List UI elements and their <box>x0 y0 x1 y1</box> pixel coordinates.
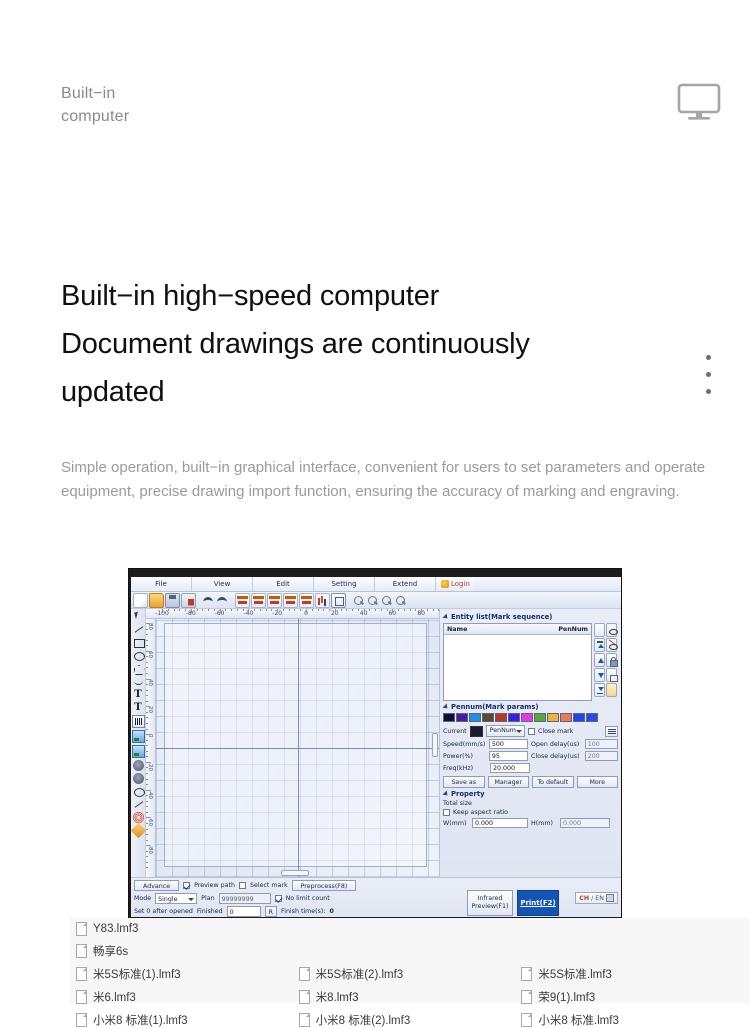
ruler-tick <box>352 609 353 611</box>
ruler-tick-label: -80 <box>147 845 153 854</box>
ruler-tick <box>146 851 148 852</box>
pen-color-swatch[interactable] <box>482 713 494 722</box>
pen-tool-icon[interactable] <box>131 823 146 839</box>
list-item[interactable]: Y83.lmf3 <box>76 922 299 936</box>
login-icon <box>441 580 449 588</box>
app-window: File View Edit Setting Extend Login <box>131 577 621 917</box>
select-all-icon[interactable] <box>606 683 617 697</box>
ruler-tick <box>191 609 192 613</box>
current-label: Current <box>443 728 467 735</box>
ruler-tick <box>146 829 148 830</box>
manager-button[interactable]: Manager <box>488 776 530 788</box>
file-icon <box>521 1013 532 1027</box>
vertical-text-tool-icon[interactable]: T <box>133 702 144 713</box>
distribute-icon[interactable] <box>315 593 330 608</box>
canvas-scrollbar-horizontal[interactable] <box>281 870 309 876</box>
work-area: T T -100-80-60-40-20020406080 806040200-… <box>131 609 621 877</box>
delete-icon[interactable] <box>181 593 196 608</box>
target-tool-icon[interactable] <box>133 812 144 823</box>
ruler-tick <box>146 806 148 807</box>
ruler-tick <box>146 645 148 646</box>
ruler-tick <box>346 609 347 611</box>
height-label: H(mm) <box>531 820 557 827</box>
ruler-tick <box>146 651 150 652</box>
ruler-tick <box>146 823 148 824</box>
pen-list-icon[interactable] <box>605 726 618 737</box>
plan-input[interactable]: 99999999 <box>219 893 271 904</box>
file-icon <box>299 990 310 1004</box>
menu-item-file[interactable]: File <box>131 577 192 591</box>
rectangle-tool-icon[interactable] <box>133 637 144 648</box>
kebab-dot <box>706 389 711 394</box>
power-input[interactable]: 95 <box>489 751 528 761</box>
reset-button[interactable]: R <box>265 906 277 917</box>
entity-list-header: Name PenNum <box>444 624 591 635</box>
list-item[interactable]: 米5S标准(1).lmf3 <box>76 966 299 982</box>
open-folder-icon[interactable] <box>149 593 164 608</box>
ruler-tick <box>364 609 365 613</box>
finish-time-value: 0 <box>330 908 334 915</box>
ruler-tick <box>146 640 148 641</box>
list-item <box>299 922 522 936</box>
ruler-tick <box>398 609 399 611</box>
ruler-tick <box>248 609 249 613</box>
rotate-tool-icon[interactable] <box>133 786 144 797</box>
language-ch-label[interactable]: CH <box>579 895 589 902</box>
pen-color-swatch[interactable] <box>547 713 559 722</box>
menu-item-edit[interactable]: Edit <box>253 577 314 591</box>
lock-icon[interactable] <box>606 894 614 902</box>
ruler-tick <box>146 712 148 713</box>
ruler-tick <box>208 609 209 611</box>
kebab-dot <box>706 355 711 360</box>
ruler-tick <box>220 609 221 613</box>
print-button[interactable]: Print(F2) <box>517 890 559 916</box>
current-color-swatch[interactable] <box>470 726 483 737</box>
preprocess-button[interactable]: Preprocess(F8) <box>292 880 357 891</box>
list-item[interactable]: 小米8 标准(1).lmf3 <box>76 1012 299 1028</box>
ruler-tick <box>318 609 319 611</box>
ruler-tick <box>146 762 150 763</box>
ruler-tick <box>387 609 388 611</box>
pennum-dropdown[interactable]: PenNum <box>486 725 525 737</box>
ruler-tick <box>146 845 150 846</box>
close-delay-input[interactable]: 200 <box>585 751 618 761</box>
pen-color-swatch[interactable] <box>469 713 481 722</box>
login-label: Login <box>451 580 470 588</box>
ruler-tick <box>260 609 261 611</box>
collapse-triangle-icon <box>442 703 449 710</box>
bottom-control-bar: Advance Preview path Select mark Preproc… <box>131 877 621 917</box>
disc-tool-icon[interactable] <box>133 773 144 784</box>
preview-path-label: Preview path <box>194 882 235 889</box>
language-slash: / <box>591 895 593 902</box>
ruler-tick <box>225 609 226 611</box>
entity-list-buttons <box>594 623 618 701</box>
pen-color-swatches <box>443 713 618 722</box>
list-item <box>299 943 522 959</box>
pen-color-swatch[interactable] <box>560 713 572 722</box>
list-item <box>521 922 744 936</box>
headline-line-2: Document drawings are continuously <box>61 320 711 368</box>
file-icon <box>76 967 87 981</box>
ruler-tick <box>421 609 422 613</box>
ruler-tick <box>146 767 148 768</box>
text-tool-icon[interactable]: T <box>133 689 144 700</box>
ruler-tick <box>283 609 284 611</box>
zoom-out-icon[interactable] <box>380 594 393 607</box>
align-left-icon[interactable] <box>235 593 250 608</box>
redo-icon[interactable] <box>216 594 229 607</box>
entity-list-section-title[interactable]: Entity list(Mark sequence) <box>444 613 618 621</box>
ruler-tick <box>146 729 148 730</box>
ruler-tick <box>146 690 148 691</box>
ruler-tick <box>146 745 148 746</box>
power-label: Power(%) <box>443 753 486 760</box>
ruler-tick <box>168 609 169 611</box>
ruler-tick <box>146 856 148 857</box>
ruler-tick <box>329 609 330 611</box>
vector-tool-icon[interactable] <box>133 760 144 771</box>
pen-color-swatch[interactable] <box>443 713 455 722</box>
grid-icon[interactable] <box>331 593 346 608</box>
ruler-tick <box>146 667 148 668</box>
unlock-icon[interactable] <box>606 668 617 682</box>
select-mark-checkbox[interactable] <box>239 882 246 889</box>
entity-col-pennum: PenNum <box>558 626 588 633</box>
ruler-tick <box>146 784 148 785</box>
keep-aspect-ratio-row: Keep aspect ratio <box>443 809 618 816</box>
entity-col-name: Name <box>447 626 467 633</box>
file-icon <box>76 944 87 958</box>
horizontal-ruler: -100-80-60-40-20020406080 <box>146 609 439 619</box>
edit-pencil-icon[interactable] <box>594 623 605 637</box>
barcode-tool-icon[interactable] <box>132 715 145 728</box>
vertical-ruler: 806040200-20-40-60-80 <box>146 619 156 877</box>
ruler-tick-label: -60 <box>147 817 153 826</box>
ruler-tick-label: -40 <box>147 790 153 799</box>
to-default-button[interactable]: To default <box>532 776 574 788</box>
ruler-tick <box>146 790 150 791</box>
zoom-fit-icon[interactable] <box>394 594 407 607</box>
ruler-tick <box>174 609 175 611</box>
ruler-tick <box>375 609 376 611</box>
infrared-preview-line-1: Infrared <box>478 895 503 902</box>
finish-time-label: Finish time(s): <box>281 908 325 915</box>
ruler-tick <box>146 701 148 702</box>
ruler-tick <box>202 609 203 611</box>
pen-color-swatch[interactable] <box>534 713 546 722</box>
file-icon <box>299 1013 310 1027</box>
ruler-tick <box>404 609 405 611</box>
ruler-tick <box>300 609 301 611</box>
ruler-tick <box>146 634 148 635</box>
align-right-icon[interactable] <box>267 593 282 608</box>
menu-item-view[interactable]: View <box>192 577 253 591</box>
file-icon <box>76 1013 87 1027</box>
ruler-tick <box>146 734 150 735</box>
eye-visible-icon[interactable] <box>606 623 617 637</box>
ruler-tick <box>146 695 148 696</box>
finished-label: Finished <box>197 908 223 915</box>
open-delay-label: Open delay(us) <box>531 741 582 748</box>
ruler-tick <box>323 609 324 611</box>
undo-icon[interactable] <box>202 594 215 607</box>
freq-input[interactable]: 20.000 <box>490 763 530 773</box>
ruler-tick <box>146 817 150 818</box>
file-icon <box>521 967 532 981</box>
ruler-tick <box>410 609 411 611</box>
work-sheet <box>164 623 427 867</box>
width-height-row: W(mm) 0.000 H(mm) 0.000 <box>443 818 618 828</box>
login-button[interactable]: Login <box>436 577 475 591</box>
list-item[interactable]: 米5S标准(2).lmf3 <box>299 966 522 982</box>
pen-color-swatch[interactable] <box>456 713 468 722</box>
align-middle-v-icon[interactable] <box>299 593 314 608</box>
width-input[interactable]: 0.000 <box>472 818 528 828</box>
no-limit-count-label: No limit count <box>286 895 330 902</box>
ruler-tick <box>146 812 148 813</box>
file-icon <box>76 922 87 936</box>
speed-input[interactable]: 500 <box>489 739 528 749</box>
move-up-icon[interactable] <box>594 653 605 667</box>
left-tool-strip: T T <box>131 609 146 877</box>
menu-item-setting[interactable]: Setting <box>314 577 375 591</box>
total-size-row: Total size <box>443 800 618 807</box>
total-size-label: Total size <box>443 800 472 807</box>
ruler-tick <box>179 609 180 611</box>
more-button[interactable]: More <box>577 776 619 788</box>
curve-tool-icon[interactable] <box>133 676 144 687</box>
entity-list-body[interactable] <box>444 635 591 700</box>
ruler-tick <box>146 862 148 863</box>
ruler-tick <box>312 609 313 611</box>
eyebrow-line-1: Built−in <box>61 82 321 105</box>
save-as-button[interactable]: Save as <box>443 776 485 788</box>
pennum-button-row: Save as Manager To default More <box>443 776 618 788</box>
file-name-label: 米5S标准(2).lmf3 <box>316 966 404 982</box>
ruler-tick <box>433 609 434 611</box>
lock-icon[interactable] <box>606 653 617 667</box>
move-to-top-icon[interactable] <box>594 638 605 652</box>
action-buttons: Infrared Preview(F1) Print(F2) <box>467 890 559 916</box>
ruler-tick <box>358 609 359 611</box>
move-to-bottom-icon[interactable] <box>594 683 605 697</box>
power-close-delay-row: Power(%) 95 Close delay(us) 200 <box>443 751 618 761</box>
file-icon <box>76 990 87 1004</box>
close-delay-label: Close delay(us) <box>531 753 582 760</box>
ruler-tick <box>254 609 255 611</box>
ruler-tick <box>197 609 198 611</box>
close-mark-checkbox[interactable] <box>528 728 535 735</box>
page-title: Built−in high−speed computer Document dr… <box>61 272 711 416</box>
plan-label: Plan <box>201 895 214 902</box>
pen-color-swatch[interactable] <box>508 713 520 722</box>
main-toolbar <box>131 592 621 609</box>
align-center-h-icon[interactable] <box>251 593 266 608</box>
ruler-tick-label: -20 <box>147 762 153 771</box>
software-screenshot: File View Edit Setting Extend Login <box>128 568 622 922</box>
language-toggle[interactable]: CH / EN <box>575 892 618 904</box>
kebab-dot <box>706 372 711 377</box>
eye-hidden-icon[interactable] <box>606 638 617 652</box>
current-pen-row: Current PenNum Close mark <box>443 725 618 737</box>
ruler-tick <box>237 609 238 611</box>
ruler-tick <box>146 834 148 835</box>
pen-color-swatch[interactable] <box>495 713 507 722</box>
ruler-tick <box>146 756 148 757</box>
eyebrow-line-2: computer <box>61 105 321 128</box>
ruler-tick <box>335 609 336 613</box>
ruler-tick <box>146 867 148 868</box>
monitor-icon <box>676 82 722 124</box>
open-delay-input[interactable]: 100 <box>585 739 618 749</box>
toolbar-separator <box>347 594 351 607</box>
ruler-tick <box>146 662 148 663</box>
ruler-tick <box>146 656 148 657</box>
ruler-tick <box>146 779 148 780</box>
ruler-tick <box>162 609 163 613</box>
move-down-icon[interactable] <box>594 668 605 682</box>
save-icon[interactable] <box>165 593 180 608</box>
right-panel: Entity list(Mark sequence) Name PenNum <box>439 609 621 877</box>
ruler-tick <box>438 609 439 611</box>
set-zero-after-opened-label: Set 0 after opened <box>134 908 193 915</box>
ruler-tick <box>306 609 307 613</box>
ruler-tick <box>146 623 150 624</box>
list-item[interactable]: 小米8 标准(2).lmf3 <box>299 1012 522 1028</box>
ruler-tick <box>146 840 148 841</box>
description-paragraph: Simple operation, built−in graphical int… <box>61 456 721 504</box>
headline-line-1: Built−in high−speed computer <box>61 272 711 320</box>
keep-aspect-ratio-checkbox[interactable] <box>443 809 450 816</box>
file-list-panel: Y83.lmf3畅享6s米5S标准(1).lmf3米5S标准(2).lmf3米5… <box>70 918 750 1003</box>
finished-input[interactable]: 0 <box>227 906 261 917</box>
ruler-tick <box>289 609 290 611</box>
ruler-tick <box>146 629 148 630</box>
align-top-icon[interactable] <box>283 593 298 608</box>
drawing-canvas[interactable] <box>156 619 439 877</box>
file-name-label: 畅享6s <box>93 943 128 959</box>
file-name-label: 小米8 标准.lmf3 <box>538 1012 619 1028</box>
list-item[interactable]: 小米8 标准.lmf3 <box>521 1012 744 1028</box>
canvas-axis-horizontal <box>156 748 439 749</box>
canvas-column: -100-80-60-40-20020406080 806040200-20-4… <box>146 609 439 877</box>
ruler-tick <box>146 684 148 685</box>
property-title-label: Property <box>451 790 485 798</box>
ruler-tick <box>415 609 416 611</box>
height-input[interactable]: 0.000 <box>560 818 610 828</box>
entity-list-row: Name PenNum <box>443 623 618 701</box>
file-name-label: 米5S标准.lmf3 <box>538 966 612 982</box>
ruler-tick <box>294 609 295 611</box>
ruler-tick <box>277 609 278 613</box>
menu-bar-filler <box>475 577 621 591</box>
ruler-tick <box>266 609 267 611</box>
select-mark-label: Select mark <box>250 882 288 889</box>
ruler-tick <box>369 609 370 611</box>
collapse-triangle-icon <box>442 790 449 797</box>
pennum-section-title[interactable]: Pennum(Mark params) <box>444 703 618 711</box>
infrared-preview-line-2: Preview(F1) <box>471 903 508 910</box>
new-file-icon[interactable] <box>133 593 148 608</box>
ruler-tick <box>341 609 342 611</box>
toolbar-separator <box>197 594 201 607</box>
file-name-label: 小米8 标准(2).lmf3 <box>316 1012 411 1028</box>
infrared-preview-button[interactable]: Infrared Preview(F1) <box>467 890 513 916</box>
advance-button[interactable]: Advance <box>134 880 179 891</box>
zoom-icon[interactable] <box>352 594 365 607</box>
node-edit-icon[interactable] <box>133 799 144 810</box>
no-limit-count-checkbox[interactable] <box>275 895 282 902</box>
list-item[interactable]: 米5S标准.lmf3 <box>521 966 744 982</box>
close-mark-label: Close mark <box>538 728 573 735</box>
entity-list-title-label: Entity list(Mark sequence) <box>451 613 552 621</box>
select-arrow-icon[interactable] <box>133 611 144 622</box>
preview-path-checkbox[interactable] <box>183 882 190 889</box>
ellipse-tool-icon[interactable] <box>133 650 144 661</box>
entity-list[interactable]: Name PenNum <box>443 623 592 701</box>
file-icon <box>299 967 310 981</box>
ruler-tick <box>146 801 148 802</box>
ruler-tick <box>392 609 393 613</box>
keep-aspect-ratio-label: Keep aspect ratio <box>453 809 508 816</box>
bitmap-tool-icon[interactable] <box>132 745 145 758</box>
collapse-triangle-icon <box>442 613 449 620</box>
toolbar-separator <box>230 594 234 607</box>
line-tool-icon[interactable] <box>133 624 144 635</box>
freq-row: Freq(kHz) 20.000 <box>443 763 618 773</box>
file-icon <box>521 990 532 1004</box>
ruler-tick <box>146 679 150 680</box>
eyebrow-label: Built−in computer <box>61 82 321 128</box>
mode-select[interactable]: Single <box>155 893 197 904</box>
file-name-label: 米5S标准(1).lmf3 <box>93 966 181 982</box>
pen-color-swatch[interactable] <box>573 713 585 722</box>
ruler-tick <box>146 773 148 774</box>
file-list-grid: Y83.lmf3畅享6s米5S标准(1).lmf3米5S标准(2).lmf3米5… <box>70 918 750 1028</box>
ruler-tick <box>146 795 148 796</box>
freq-label: Freq(kHz) <box>443 765 487 772</box>
ruler-tick <box>146 717 148 718</box>
language-en-label[interactable]: EN <box>595 895 604 902</box>
menu-bar: File View Edit Setting Extend Login <box>131 577 621 592</box>
canvas-scrollbar-vertical[interactable] <box>432 733 438 757</box>
pen-color-swatch[interactable] <box>586 713 598 722</box>
headline-line-3: updated <box>61 368 711 416</box>
file-name-label: 小米8 标准(1).lmf3 <box>93 1012 188 1028</box>
ruler-tick <box>146 706 150 707</box>
ruler-tick <box>381 609 382 611</box>
menu-item-extend[interactable]: Extend <box>375 577 436 591</box>
pen-color-swatch[interactable] <box>521 713 533 722</box>
file-name-label: Y83.lmf3 <box>93 923 138 935</box>
width-label: W(mm) <box>443 820 469 827</box>
zoom-in-icon[interactable] <box>366 594 379 607</box>
polygon-tool-icon[interactable] <box>133 663 144 674</box>
speed-open-delay-row: Speed(mm/s) 500 Open delay(us) 100 <box>443 739 618 749</box>
ruler-tick <box>231 609 232 611</box>
property-section-title[interactable]: Property <box>444 790 618 798</box>
speed-label: Speed(mm/s) <box>443 741 486 748</box>
ruler-tick <box>427 609 428 611</box>
more-options-icon[interactable] <box>706 355 711 394</box>
canvas-wrapper: 806040200-20-40-60-80 <box>146 619 439 877</box>
ruler-tick <box>146 751 148 752</box>
list-item[interactable]: 畅享6s <box>76 943 299 959</box>
image-tool-icon[interactable] <box>132 730 145 743</box>
pennum-title-label: Pennum(Mark params) <box>451 703 539 711</box>
